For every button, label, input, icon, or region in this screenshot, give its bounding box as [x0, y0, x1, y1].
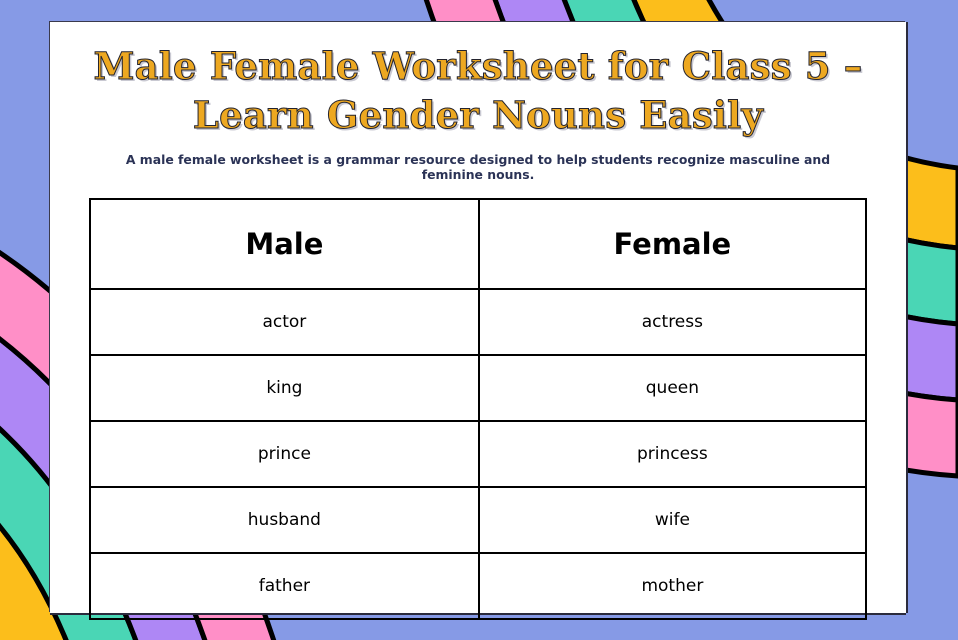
worksheet-card: Male Female Worksheet for Class 5 – Lear… [50, 22, 906, 613]
column-header-female: Female [479, 199, 866, 289]
table-header-row: Male Female [90, 199, 866, 289]
table-row: prince princess [90, 421, 866, 487]
cell-male: actor [90, 289, 479, 355]
cell-female: princess [479, 421, 866, 487]
gender-nouns-table: Male Female actor actress king queen pri… [89, 198, 867, 620]
cell-male: prince [90, 421, 479, 487]
table-row: king queen [90, 355, 866, 421]
page-subtitle: A male female worksheet is a grammar res… [50, 152, 906, 182]
table-body: actor actress king queen prince princess… [90, 289, 866, 619]
gender-nouns-table-wrapper: Male Female actor actress king queen pri… [89, 198, 867, 620]
page-title: Male Female Worksheet for Class 5 – Lear… [50, 22, 906, 140]
cell-female: actress [479, 289, 866, 355]
table-row: father mother [90, 553, 866, 619]
cell-male: father [90, 553, 479, 619]
cell-female: queen [479, 355, 866, 421]
table-row: actor actress [90, 289, 866, 355]
cell-male: king [90, 355, 479, 421]
cell-male: husband [90, 487, 479, 553]
cell-female: mother [479, 553, 866, 619]
cell-female: wife [479, 487, 866, 553]
column-header-male: Male [90, 199, 479, 289]
table-header: Male Female [90, 199, 866, 289]
worksheet-screenshot: Male Female Worksheet for Class 5 – Lear… [0, 0, 958, 640]
table-row: husband wife [90, 487, 866, 553]
